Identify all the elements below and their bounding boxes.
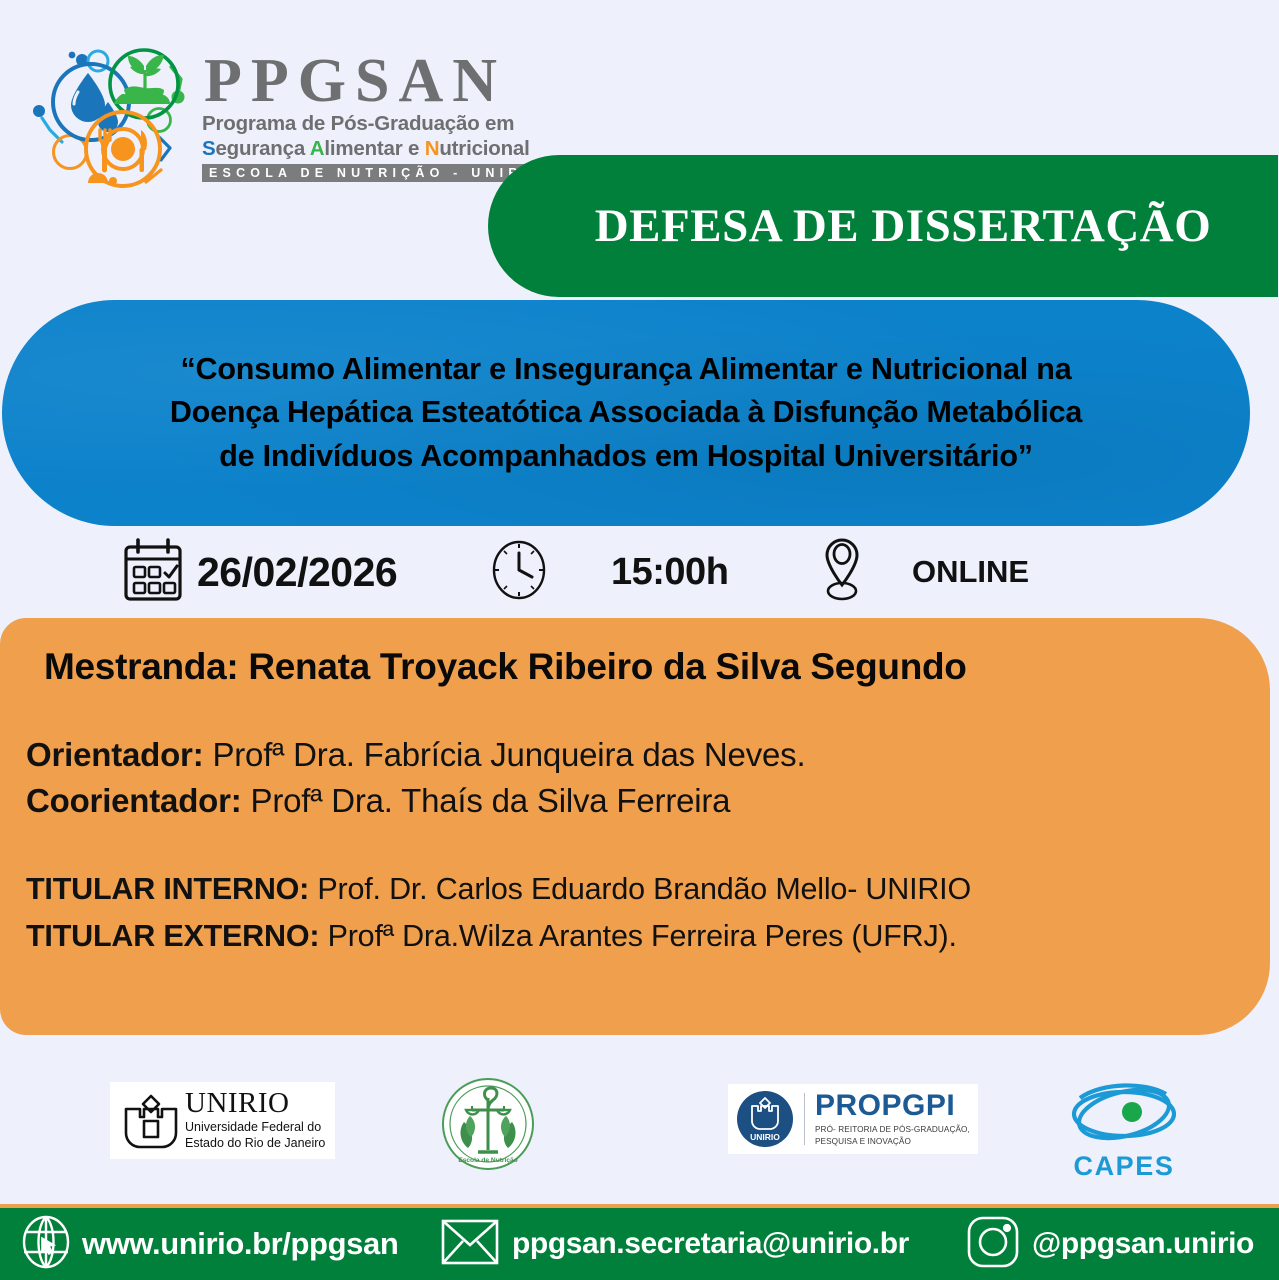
thesis-line-3: de Indivíduos Acompanhados em Hospital U… bbox=[71, 435, 1181, 478]
student-line: Mestranda: Renata Troyack Ribeiro da Sil… bbox=[44, 646, 967, 688]
unirio-wordmark: UNIRIO Universidade Federal do Estado do… bbox=[185, 1090, 325, 1151]
escola-nutricao-seal-icon: Escola de Nutrição bbox=[440, 1076, 536, 1177]
committee-group: TITULAR INTERNO: Prof. Dr. Carlos Eduard… bbox=[26, 866, 971, 961]
advisor-label: Orientador: bbox=[26, 736, 203, 773]
instagram-icon bbox=[966, 1215, 1020, 1274]
map-pin-icon bbox=[816, 536, 868, 609]
ppgsan-logo: PPGSAN Programa de Pós-Graduação em Segu… bbox=[28, 42, 528, 192]
propgpi-unirio-seal-icon: UNIRIO bbox=[736, 1090, 794, 1148]
dot-blue-icon bbox=[33, 105, 45, 117]
svg-text:UNIRIO: UNIRIO bbox=[750, 1132, 780, 1142]
internal-member-line: TITULAR INTERNO: Prof. Dr. Carlos Eduard… bbox=[26, 866, 971, 913]
footer-email-text: ppgsan.secretaria@unirio.br bbox=[512, 1227, 909, 1261]
external-member-label: TITULAR EXTERNO: bbox=[26, 919, 319, 953]
ppgsan-logo-mark bbox=[28, 42, 196, 192]
event-info-row: 26/02/2026 15:00h ONLINE bbox=[0, 528, 1279, 616]
coadvisor-label: Coorientador: bbox=[26, 782, 242, 819]
thesis-line-1: “Consumo Alimentar e Insegurança Aliment… bbox=[71, 348, 1181, 391]
advisor-line: Orientador: Profª Dra. Fabrícia Junqueir… bbox=[26, 732, 805, 778]
unirio-logo: UNIRIO Universidade Federal do Estado do… bbox=[110, 1082, 335, 1159]
thesis-title: “Consumo Alimentar e Insegurança Aliment… bbox=[71, 348, 1181, 478]
sponsor-logos: UNIRIO Universidade Federal do Estado do… bbox=[0, 1070, 1279, 1190]
thesis-title-block: “Consumo Alimentar e Insegurança Aliment… bbox=[2, 300, 1250, 526]
capes-name: CAPES bbox=[1073, 1151, 1174, 1182]
advisors-group: Orientador: Profª Dra. Fabrícia Junqueir… bbox=[26, 732, 805, 824]
escola-nutricao-logo: Escola de Nutrição bbox=[440, 1076, 536, 1177]
envelope-icon bbox=[440, 1217, 500, 1272]
coadvisor-name: Profª Dra. Thaís da Silva Ferreira bbox=[242, 782, 731, 819]
thesis-line-2: Doença Hepática Esteatótica Associada à … bbox=[71, 391, 1181, 434]
external-member-line: TITULAR EXTERNO: Profª Dra.Wilza Arantes… bbox=[26, 913, 971, 960]
coadvisor-line: Coorientador: Profª Dra. Thaís da Silva … bbox=[26, 778, 805, 824]
propgpi-sub-line1: PRÓ- REITORIA DE PÓS-GRADUAÇÃO, bbox=[815, 1124, 970, 1135]
plant-hand-icon bbox=[110, 50, 178, 118]
event-date: 26/02/2026 bbox=[122, 537, 397, 608]
unirio-name: UNIRIO bbox=[185, 1087, 290, 1119]
unirio-mark-icon bbox=[120, 1093, 182, 1149]
ppgsan-acronym: PPGSAN bbox=[204, 52, 522, 111]
propgpi-name: PROPGPI bbox=[815, 1091, 970, 1121]
ppgsan-logo-text: PPGSAN Programa de Pós-Graduação em Segu… bbox=[202, 52, 522, 183]
propgpi-sub-line2: PESQUISA E INOVAÇÃO bbox=[815, 1136, 970, 1147]
globe-icon bbox=[20, 1214, 72, 1275]
propgpi-wordmark: PROPGPI PRÓ- REITORIA DE PÓS-GRADUAÇÃO, … bbox=[815, 1091, 970, 1146]
capes-logo: CAPES bbox=[1062, 1076, 1186, 1182]
external-member-name: Profª Dra.Wilza Arantes Ferreira Peres (… bbox=[319, 919, 956, 953]
poster-canvas: PPGSAN Programa de Pós-Graduação em Segu… bbox=[0, 0, 1279, 1280]
propgpi-divider bbox=[804, 1093, 805, 1145]
internal-member-name: Prof. Dr. Carlos Eduardo Brandão Mello- … bbox=[309, 872, 971, 906]
calendar-icon bbox=[122, 537, 184, 608]
svg-text:Escola de Nutrição: Escola de Nutrição bbox=[458, 1157, 517, 1164]
footer-email[interactable]: ppgsan.secretaria@unirio.br bbox=[440, 1217, 909, 1272]
event-location-text: ONLINE bbox=[912, 554, 1029, 590]
logo-icons-group bbox=[28, 42, 196, 192]
defense-banner: DEFESA DE DISSERTAÇÃO bbox=[488, 155, 1278, 297]
advisor-name: Profª Dra. Fabrícia Junqueira das Neves. bbox=[203, 736, 805, 773]
event-time-text: 15:00h bbox=[611, 551, 728, 594]
internal-member-label: TITULAR INTERNO: bbox=[26, 872, 309, 906]
event-date-text: 26/02/2026 bbox=[197, 549, 397, 596]
capes-mark-icon bbox=[1062, 1076, 1186, 1155]
people-block: Mestranda: Renata Troyack Ribeiro da Sil… bbox=[0, 618, 1270, 1035]
ppgsan-subtitle-line3: ESCOLA DE NUTRIÇÃO - UNIRIO bbox=[202, 164, 550, 182]
ring-green-icon bbox=[148, 109, 171, 132]
unirio-desc-line1: Universidade Federal do bbox=[185, 1120, 325, 1135]
footer-instagram[interactable]: @ppgsan.unirio bbox=[966, 1215, 1254, 1274]
footer-instagram-text: @ppgsan.unirio bbox=[1032, 1227, 1254, 1261]
contact-footer-bar: www.unirio.br/ppgsan ppgsan.secretaria@u… bbox=[0, 1208, 1279, 1280]
footer-website-text: www.unirio.br/ppgsan bbox=[82, 1226, 398, 1262]
footer-website[interactable]: www.unirio.br/ppgsan bbox=[20, 1214, 398, 1275]
unirio-desc-line2: Estado do Rio de Janeiro bbox=[185, 1136, 325, 1151]
ppgsan-subtitle-line2: Segurança Alimentar e Nutricional bbox=[202, 137, 522, 161]
clock-icon bbox=[490, 537, 548, 608]
banner-title: DEFESA DE DISSERTAÇÃO bbox=[555, 199, 1212, 253]
event-location: ONLINE bbox=[816, 536, 1029, 609]
propgpi-logo: UNIRIO PROPGPI PRÓ- REITORIA DE PÓS-GRAD… bbox=[728, 1084, 978, 1154]
ppgsan-subtitle-line1: Programa de Pós-Graduação em bbox=[202, 112, 522, 136]
event-time: 15:00h bbox=[490, 537, 728, 608]
